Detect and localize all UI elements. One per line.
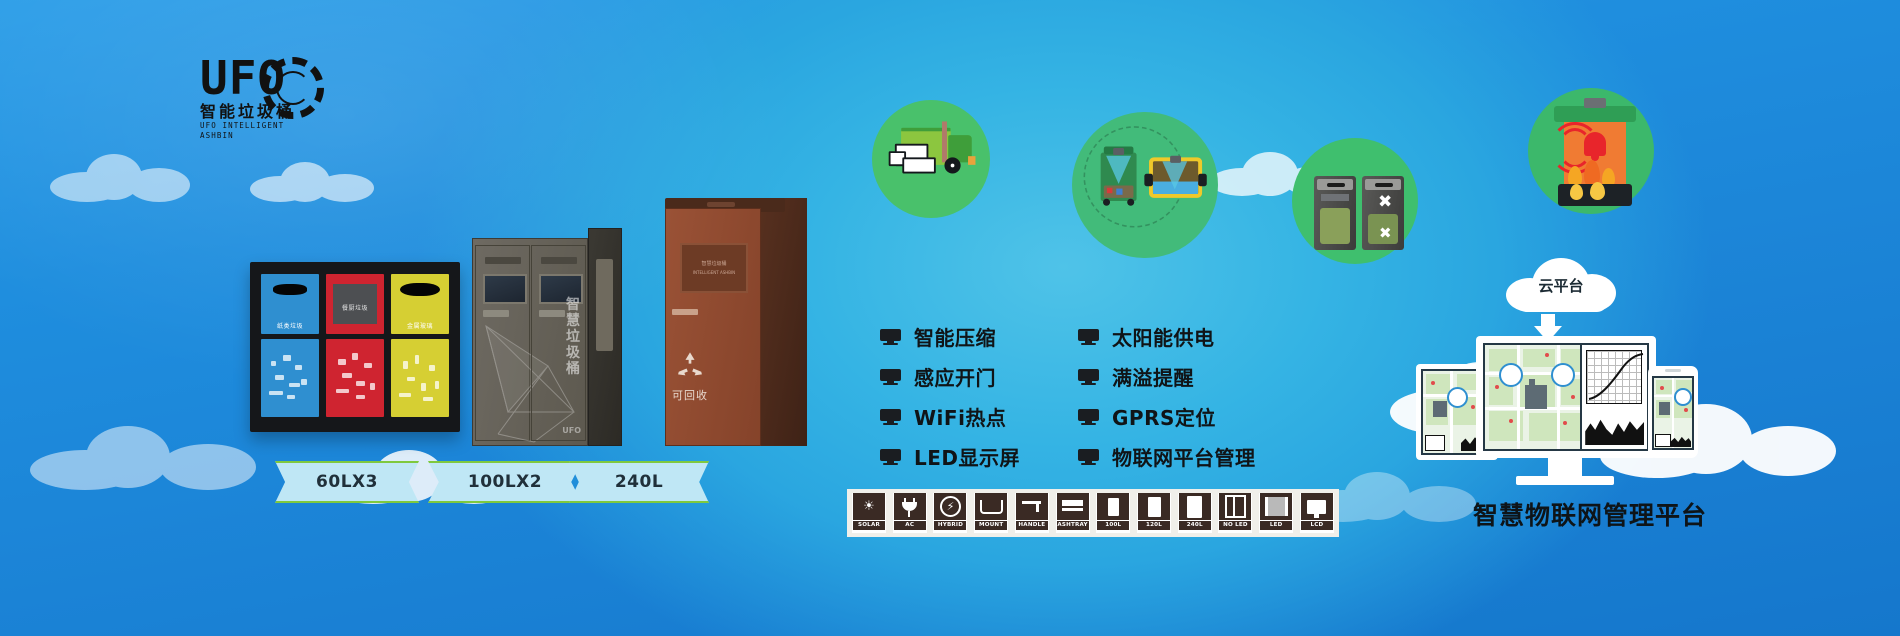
spec-badge-100l[interactable]: 100L <box>1096 493 1130 533</box>
compartment-label: 餐厨垃圾 <box>326 303 384 312</box>
product-gray-dual-smart-bin: 智慧垃圾桶 UFO <box>472 238 622 446</box>
handle-icon <box>1016 493 1048 520</box>
panel-text-en: INTELLIGENT ASHBIN <box>682 269 746 276</box>
recycle-mark: 可回收 <box>666 349 714 403</box>
feature-item: GPRS定位 <box>1078 402 1256 431</box>
feature-circle-fill-level-detection <box>1072 112 1218 258</box>
phone-screen <box>1652 376 1694 450</box>
cloud-decoration <box>30 420 260 494</box>
garbage-truck-icon <box>875 105 948 178</box>
logo-name-en: UFO INTELLIGENT ASHBIN <box>200 121 320 141</box>
bin-100l-icon <box>1097 493 1129 520</box>
bin-240l-icon <box>1179 493 1211 520</box>
spec-badge-handle[interactable]: HANDLE <box>1015 493 1049 533</box>
wall-mount-icon <box>975 493 1007 520</box>
feature-item: LED显示屏 <box>880 442 1020 471</box>
spec-badge-hybrid[interactable]: ⚡ HYBRID <box>933 493 967 533</box>
bin-front-panel: 智慧垃圾桶 UFO <box>472 238 588 446</box>
badge-label: SOLAR <box>853 521 885 530</box>
spec-badge-ashtray[interactable]: ASHTRAY <box>1056 493 1090 533</box>
bin-brand-badge: UFO <box>562 426 581 435</box>
bin-compartment-paper: 纸类垃圾 <box>261 274 319 420</box>
badge-label: AC <box>894 521 926 530</box>
fire-alarm-bin-icon <box>1528 88 1654 214</box>
feature-column-left: 智能压缩 感应开门 WiFi热点 LED显示屏 <box>880 322 1020 471</box>
growth-curve <box>1587 351 1645 401</box>
product-capacity-tag: 60LX3 <box>275 461 419 503</box>
cloud-platform-label: 云平台 <box>1506 275 1616 296</box>
desktop-monitor-device <box>1476 336 1656 458</box>
lcd-screen-icon <box>1301 493 1333 520</box>
power-plug-icon <box>894 493 926 520</box>
hybrid-bolt-icon: ⚡ <box>934 493 966 520</box>
badge-label: 120L <box>1138 521 1170 530</box>
compartment-label: 金属玻璃 <box>391 321 449 330</box>
product-brown-recycling-bin: 智慧垃圾桶 INTELLIGENT ASHBIN 可回收 <box>665 198 807 446</box>
bin-door-left <box>475 245 530 441</box>
bin-side-panel <box>588 228 622 446</box>
monitor-icon <box>880 329 901 345</box>
smartphone-device <box>1648 366 1698 458</box>
feature-label: LED显示屏 <box>914 442 1020 471</box>
bin-info-panel: 智慧垃圾桶 INTELLIGENT ASHBIN <box>680 243 748 293</box>
area-chart <box>1585 409 1644 445</box>
feature-column-right: 太阳能供电 满溢提醒 GPRS定位 物联网平台管理 <box>1078 322 1256 471</box>
spec-badge-240l[interactable]: 240L <box>1178 493 1212 533</box>
sun-icon: ☀ <box>853 493 885 520</box>
spec-badge-120l[interactable]: 120L <box>1137 493 1171 533</box>
product-capacity-tag: 240L <box>569 461 709 503</box>
bin-front-panel: 智慧垃圾桶 INTELLIGENT ASHBIN 可回收 <box>665 208 761 446</box>
spec-badge-no-led[interactable]: NO LED <box>1218 493 1252 533</box>
badge-label: 100L <box>1097 521 1129 530</box>
bin-side-text: 智慧垃圾桶 <box>565 297 581 377</box>
feature-item: 太阳能供电 <box>1078 322 1256 351</box>
feature-item: 物联网平台管理 <box>1078 442 1256 471</box>
monitor-base <box>1516 476 1614 485</box>
product-banner: UFO 智能垃圾桶 UFO INTELLIGENT ASHBIN 纸类垃圾 餐厨… <box>0 0 1900 636</box>
spec-badge-solar[interactable]: ☀ SOLAR <box>852 493 886 533</box>
monitor-icon <box>1078 329 1099 345</box>
brand-logo: UFO 智能垃圾桶 UFO INTELLIGENT ASHBIN <box>200 55 320 155</box>
badge-label: NO LED <box>1219 521 1251 530</box>
platform-caption: 智慧物联网管理平台 <box>1394 496 1786 532</box>
feature-list: 智能压缩 感应开门 WiFi热点 LED显示屏 太阳能供电 满溢提醒 <box>880 322 1256 471</box>
feature-circle-smart-collection-truck <box>872 100 990 218</box>
bin-side-panel <box>761 198 807 446</box>
feature-label: 感应开门 <box>914 362 996 391</box>
spec-badge-mount[interactable]: MOUNT <box>974 493 1008 533</box>
badge-label: 240L <box>1179 521 1211 530</box>
badge-label: HYBRID <box>934 521 966 530</box>
spec-badge-lcd[interactable]: LCD <box>1300 493 1334 533</box>
badge-label: LCD <box>1301 521 1333 530</box>
product-three-compartment-bin: 纸类垃圾 餐厨垃圾 金属玻璃 <box>250 262 460 432</box>
bin-display-left <box>483 274 527 304</box>
badge-label: ASHTRAY <box>1057 521 1089 530</box>
feature-item: WiFi热点 <box>880 402 1020 431</box>
compartment-label: 纸类垃圾 <box>261 321 319 330</box>
bin-compartment-kitchen: 餐厨垃圾 <box>326 274 384 420</box>
bin-fill-sensor-icon <box>1077 120 1191 234</box>
feature-label: GPRS定位 <box>1112 402 1216 431</box>
feature-label: 物联网平台管理 <box>1112 442 1256 471</box>
monitor-icon <box>880 369 901 385</box>
map-view <box>1485 345 1582 449</box>
feature-label: WiFi热点 <box>914 402 1006 431</box>
feature-item: 满溢提醒 <box>1078 362 1256 391</box>
feature-label: 智能压缩 <box>914 322 996 351</box>
bin-compartment-metal-glass: 金属玻璃 <box>391 274 449 420</box>
feature-label: 满溢提醒 <box>1112 362 1194 391</box>
monitor-icon <box>1078 409 1099 425</box>
feature-item: 智能压缩 <box>880 322 1020 351</box>
bin-120l-icon <box>1138 493 1170 520</box>
cloud-platform-badge: 云平台 <box>1506 258 1616 312</box>
spec-badge-strip: ☀ SOLAR AC ⚡ HYBRID MOUNT <box>847 489 1339 537</box>
led-panel-icon <box>1260 493 1292 520</box>
recycle-icon <box>673 349 707 381</box>
feature-label: 太阳能供电 <box>1112 322 1215 351</box>
monitor-icon <box>1078 369 1099 385</box>
recycle-label: 可回收 <box>666 387 714 403</box>
badge-label: MOUNT <box>975 521 1007 530</box>
monitor-screen <box>1483 343 1649 451</box>
product-capacity-tag: 100LX2 <box>428 461 582 503</box>
feature-circle-fire-alarm <box>1528 88 1654 214</box>
monitor-stand <box>1548 458 1582 478</box>
badge-label: LED <box>1260 521 1292 530</box>
cloud-decoration <box>50 150 200 210</box>
spec-badge-led[interactable]: LED <box>1259 493 1293 533</box>
analytics-panel <box>1580 345 1647 449</box>
ashtray-icon <box>1057 493 1089 520</box>
monitor-icon <box>1078 449 1099 465</box>
compaction-bins-icon: ✖ ✖ <box>1292 138 1418 264</box>
monitor-icon <box>880 409 901 425</box>
feature-item: 感应开门 <box>880 362 1020 391</box>
monitor-icon <box>880 449 901 465</box>
iot-platform-illustration: 云平台 <box>1420 300 1760 530</box>
feature-circle-waste-compaction: ✖ ✖ <box>1292 138 1418 264</box>
cloud-decoration <box>250 160 380 206</box>
no-led-icon <box>1219 493 1251 520</box>
panel-text-cn: 智慧垃圾桶 <box>682 261 746 268</box>
ufo-ring-icon <box>262 57 324 119</box>
badge-label: HANDLE <box>1016 521 1048 530</box>
spec-badge-ac[interactable]: AC <box>893 493 927 533</box>
